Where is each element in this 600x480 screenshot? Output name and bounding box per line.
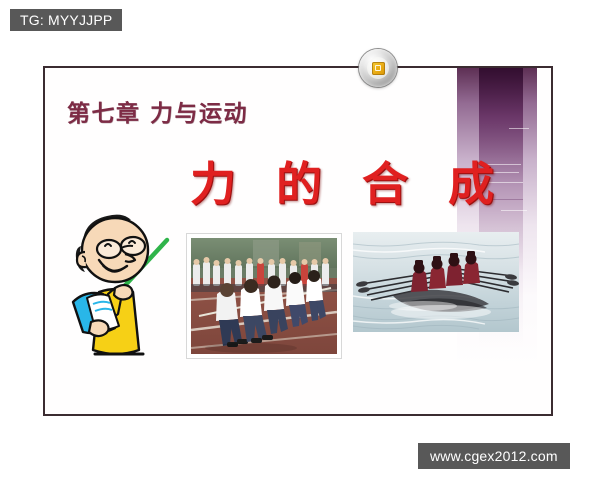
slide-medallion-icon[interactable] bbox=[359, 49, 397, 87]
deco-hatch-7 bbox=[509, 128, 529, 129]
gold-square-icon bbox=[372, 62, 385, 75]
slide-canvas: 第七章 力与运动 力 的 合 成 bbox=[45, 68, 551, 414]
tug-of-war-photo-image bbox=[191, 238, 337, 354]
rowing-team-photo bbox=[353, 232, 519, 332]
bottom-watermark-url: www.cgex2012.com bbox=[418, 443, 570, 469]
slide-main-title: 力 的 合 成 bbox=[190, 148, 506, 214]
screenshot-root: TG: MYYJJPP bbox=[0, 0, 600, 480]
rowing-team-photo-image bbox=[353, 232, 519, 332]
top-watermark-tag: TG: MYYJJPP bbox=[10, 9, 122, 31]
chapter-title: 第七章 力与运动 bbox=[67, 94, 248, 128]
tug-of-war-photo bbox=[187, 234, 341, 358]
cartoon-teacher-illustration bbox=[63, 204, 181, 379]
presentation-slide: 第七章 力与运动 力 的 合 成 bbox=[43, 66, 553, 416]
medallion-core bbox=[367, 57, 389, 79]
gold-square-inner-icon bbox=[375, 65, 381, 71]
